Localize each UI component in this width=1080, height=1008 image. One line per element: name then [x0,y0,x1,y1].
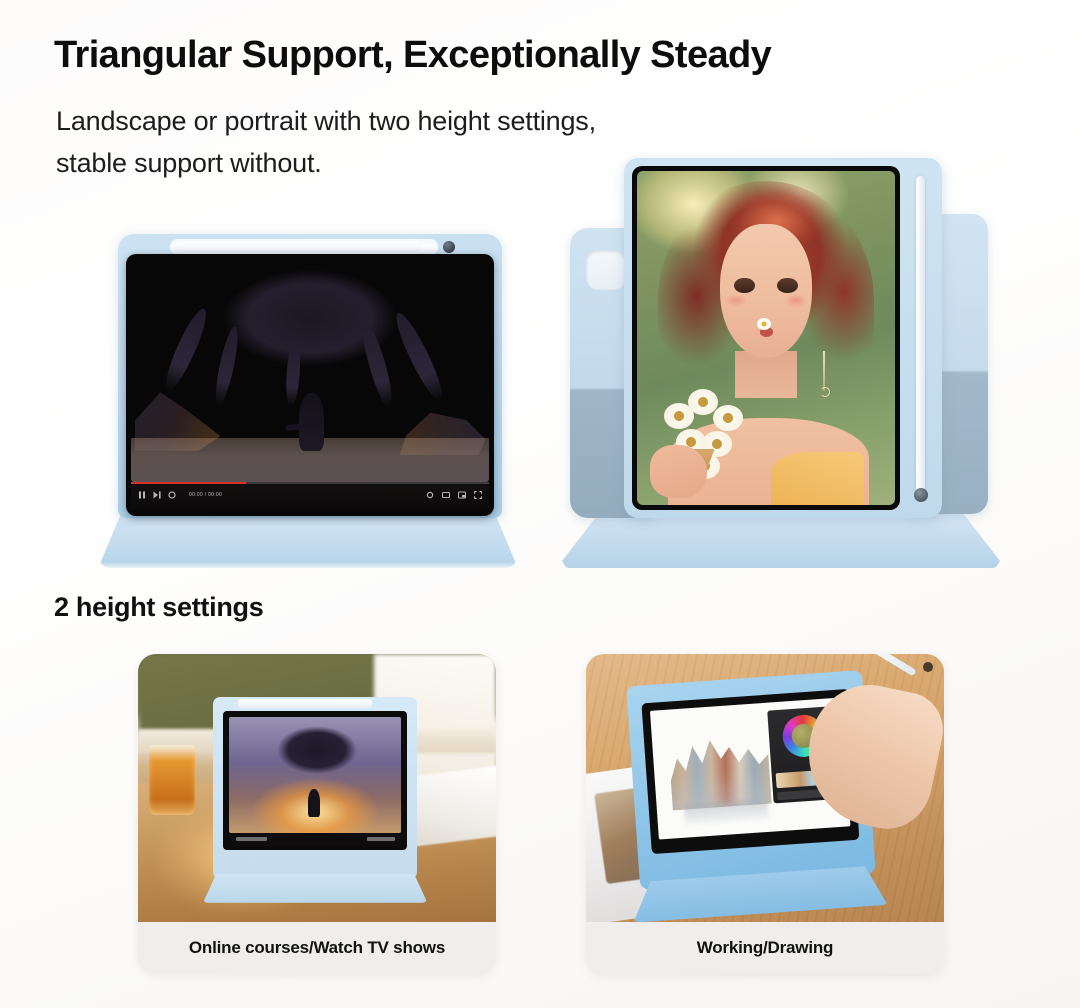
girl-illustration-artwork [637,171,895,505]
stylus-icon [238,699,373,708]
pip-icon[interactable] [458,491,466,499]
earring-icon [823,351,825,391]
cityscape-drawing [667,724,772,811]
section-title: 2 height settings [54,592,263,623]
daisy-in-mouth-icon [757,318,771,330]
stylus-icon [174,241,422,252]
hand-shape [650,445,707,498]
daisy-icon [713,405,743,431]
page-title: Triangular Support, Exceptionally Steady [54,34,771,77]
camera-lens-icon [443,241,455,253]
video-timestamp: 00:00 / 00:00 [189,492,222,498]
use-case-card-online-courses[interactable]: Online courses/Watch TV shows [138,654,496,974]
next-icon[interactable] [153,491,161,499]
subtitle-line-1: Landscape or portrait with two height se… [56,100,596,142]
portrait-case-shell [624,158,942,518]
movie-scene-artwork [131,260,489,482]
refresh-icon[interactable] [168,491,176,499]
portrait-stand-base [562,510,1000,568]
fullscreen-icon[interactable] [474,491,482,499]
photo-working-drawing [586,654,944,922]
face-shape [720,224,813,358]
camera-cutout-icon [586,250,626,290]
desk-scene-right [586,654,944,922]
daisy-icon [688,389,718,415]
movie-scene-artwork [229,717,402,833]
eye-left-icon [734,278,754,293]
player-right-controls [367,837,395,841]
player-left-controls [236,837,267,841]
video-progress-track[interactable] [131,482,489,484]
video-progress-fill [131,482,246,484]
player-left-controls[interactable]: 00:00 / 00:00 [138,491,222,499]
tentacle-icon [160,305,212,393]
landscape-stand-base [100,514,516,568]
use-case-card-working-drawing[interactable]: Working/Drawing [586,654,944,974]
card-caption-online-courses: Online courses/Watch TV shows [138,922,496,974]
clothing-shape [771,452,864,505]
stylus-icon [916,176,925,494]
subtitles-icon[interactable] [442,491,450,499]
hero-silhouette [299,393,324,451]
landscape-tablet-illustration: 00:00 / 00:00 [96,232,520,568]
pause-icon[interactable] [138,491,146,499]
tablet-screen [223,711,407,849]
page-subtitle: Landscape or portrait with two height se… [56,100,596,184]
stand-base [203,874,427,903]
portrait-tablet-illustration [556,150,1006,568]
photo-online-courses [138,654,496,922]
desk-scene-left [138,654,496,922]
portrait-tablet-screen [632,166,900,510]
landscape-tablet-screen: 00:00 / 00:00 [126,254,494,516]
use-case-card-list: Online courses/Watch TV shows [138,654,944,974]
stylus-hinge-icon [914,488,928,502]
tablet-in-scene [213,697,417,879]
subtitle-line-2: stable support without. [56,142,596,184]
card-caption-working-drawing: Working/Drawing [586,922,944,974]
video-player-bar [229,833,402,845]
video-player-bar[interactable]: 00:00 / 00:00 [131,482,489,510]
blush-right [785,294,807,307]
settings-icon[interactable] [426,491,434,499]
monster-silhouette [274,724,360,789]
blush-left [725,294,747,307]
hero-silhouette [308,789,320,817]
player-right-controls[interactable] [426,491,482,499]
drawing-shadow [683,799,768,826]
eye-right-icon [777,278,797,293]
drink-glass [149,745,196,815]
